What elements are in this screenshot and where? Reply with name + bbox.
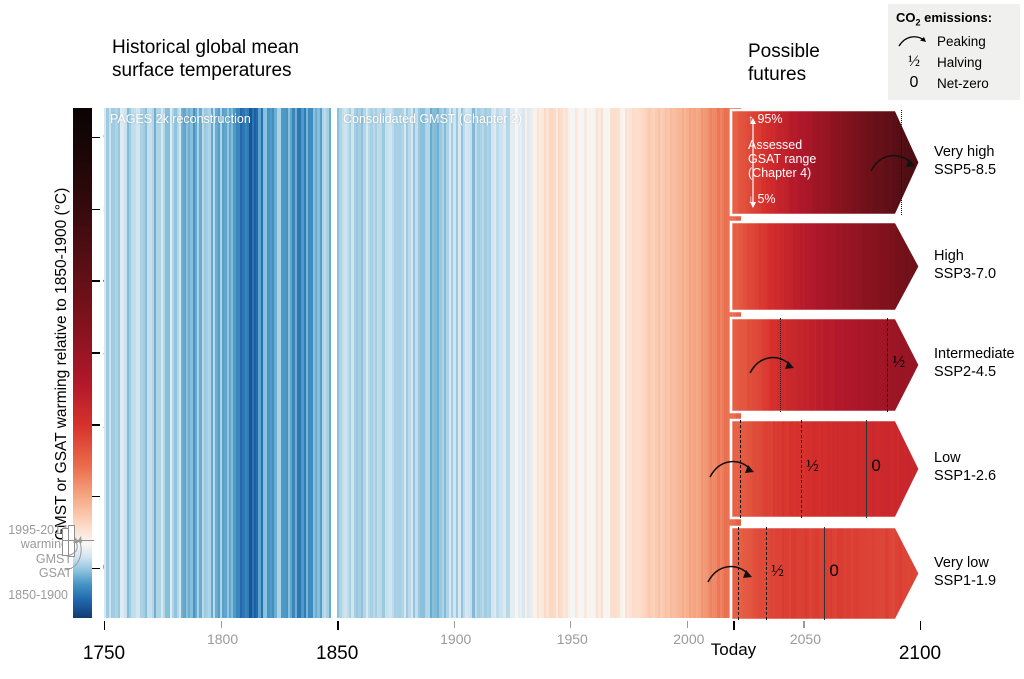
x-tick-minor: [221, 621, 222, 628]
colorbar-tick: [92, 424, 100, 426]
x-label-1850: 1850: [305, 643, 369, 665]
consolidated-gmst-panel-label: Consolidated GMST (Chapter 2): [343, 112, 522, 126]
x-tick-minor: [803, 621, 804, 628]
peaking-arrow-icon: [706, 561, 758, 587]
colorbar-tick: [92, 137, 100, 139]
marker-label-halving: ½: [892, 352, 905, 372]
scenario-code: SSP1-2.6: [934, 467, 1024, 485]
marker-line-halving: [766, 527, 767, 620]
legend-label-peaking: Peaking: [932, 34, 986, 49]
assessed-range-lower: ↓ 5%: [748, 192, 838, 206]
annotation-baseline: 1850-1900: [0, 589, 68, 603]
annotation-1995-2014-warming: 1995-2014warming: [0, 524, 68, 551]
legend-item-netzero: 0 Net-zero: [896, 73, 1012, 94]
temperature-stripe: [329, 108, 331, 618]
x-tick-minor: [454, 621, 455, 628]
x-tick-major: [337, 621, 338, 630]
scenario-row-ssp1-1.9[interactable]: ½0: [731, 527, 920, 620]
marker-line-halving: [887, 318, 888, 412]
marker-label-halving: ½: [806, 456, 819, 476]
historical-title-text: Historical global meansurface temperatur…: [112, 37, 299, 81]
scenario-row-ssp1-2.6[interactable]: ½0: [731, 420, 920, 518]
halving-glyph: ½: [896, 53, 932, 71]
colorbar-tick: [92, 280, 100, 282]
scenario-label-ssp1-1.9: Very lowSSP1-1.9: [934, 554, 1024, 590]
scenario-outline: [731, 222, 922, 311]
historical-title: Historical global meansurface temperatur…: [112, 36, 392, 82]
x-tick-minor: [687, 621, 688, 628]
scenario-code: SSP2-4.5: [934, 363, 1024, 381]
x-tick-major: [733, 621, 734, 630]
marker-label-netzero: 0: [829, 561, 838, 581]
futures-title: Possiblefutures: [748, 40, 888, 86]
assessed-range-upper: ↑ 95%: [748, 112, 838, 126]
scenario-name: Low: [934, 449, 1024, 467]
scenario-label-ssp5-8.5: Very highSSP5-8.5: [934, 143, 1024, 179]
scenario-code: SSP1-1.9: [934, 572, 1024, 590]
assessed-range-annotation: ↑ 95% AssessedGSAT range(Chapter 4) ↓ 5%: [748, 112, 838, 206]
scenario-code: SSP5-8.5: [934, 161, 1024, 179]
x-tick-minor: [570, 621, 571, 628]
scenario-name: Very low: [934, 554, 1024, 572]
assessed-range-caption: AssessedGSAT range(Chapter 4): [748, 138, 838, 180]
scenario-name: High: [934, 247, 1024, 265]
scenario-row-ssp3-7.0[interactable]: [731, 222, 920, 311]
pages2k-stripes-panel: [104, 108, 331, 618]
legend-label-netzero: Net-zero: [932, 76, 989, 91]
colorbar-tick: [92, 496, 100, 498]
scenario-label-ssp1-2.6: LowSSP1-2.6: [934, 449, 1024, 485]
peaking-arrow-icon: [869, 150, 921, 176]
assessed-range-arrow: [749, 116, 761, 212]
legend-title: CO2 emissions:: [896, 10, 1012, 28]
colorbar-tick: [92, 352, 100, 354]
x-label-2100: 2100: [888, 643, 952, 665]
x-label-today: Today: [701, 640, 765, 660]
scenario-outline: [731, 527, 922, 620]
netzero-glyph: 0: [896, 74, 932, 92]
pages2k-panel-label: PAGES 2k reconstruction: [110, 112, 251, 126]
colorbar-tick: [92, 209, 100, 211]
scenario-name: Very high: [934, 143, 1024, 161]
scenario-label-ssp2-4.5: IntermediateSSP2-4.5: [934, 345, 1024, 381]
marker-label-halving: ½: [771, 561, 784, 581]
peaking-arrow-icon: [708, 456, 760, 482]
scenario-row-ssp2-4.5[interactable]: ½: [731, 318, 920, 412]
legend-label-halving: Halving: [932, 55, 982, 70]
x-label-2050: 2050: [785, 631, 825, 647]
marker-label-netzero: 0: [871, 456, 880, 476]
x-label-1950: 1950: [552, 631, 592, 647]
x-label-1800: 1800: [203, 631, 243, 647]
peaking-arrow-icon: [748, 352, 800, 378]
scenario-code: SSP3-7.0: [934, 265, 1024, 283]
consolidated-gmst-stripes-panel: [337, 108, 741, 618]
peaking-arrow-icon: [896, 33, 932, 49]
marker-line-netzero: [866, 420, 867, 518]
legend-item-halving: ½ Halving: [896, 52, 1012, 73]
x-tick-major: [920, 621, 921, 630]
marker-line-halving: [801, 420, 802, 518]
scenario-label-ssp3-7.0: HighSSP3-7.0: [934, 247, 1024, 283]
scenario-name: Intermediate: [934, 345, 1024, 363]
annotation-leader-lines: [18, 548, 76, 588]
co2-emissions-legend: CO2 emissions: Peaking ½ Halving 0 Net-z…: [888, 4, 1020, 100]
colorbar-axis-label: GMST or GSAT warming relative to 1850-19…: [53, 174, 71, 554]
x-label-1900: 1900: [436, 631, 476, 647]
marker-line-netzero: [824, 527, 825, 620]
x-tick-major: [104, 621, 105, 630]
futures-title-text: Possiblefutures: [748, 41, 820, 85]
x-label-1750: 1750: [72, 643, 136, 665]
legend-item-peaking: Peaking: [896, 31, 1012, 52]
colorbar-tick: [92, 568, 100, 570]
